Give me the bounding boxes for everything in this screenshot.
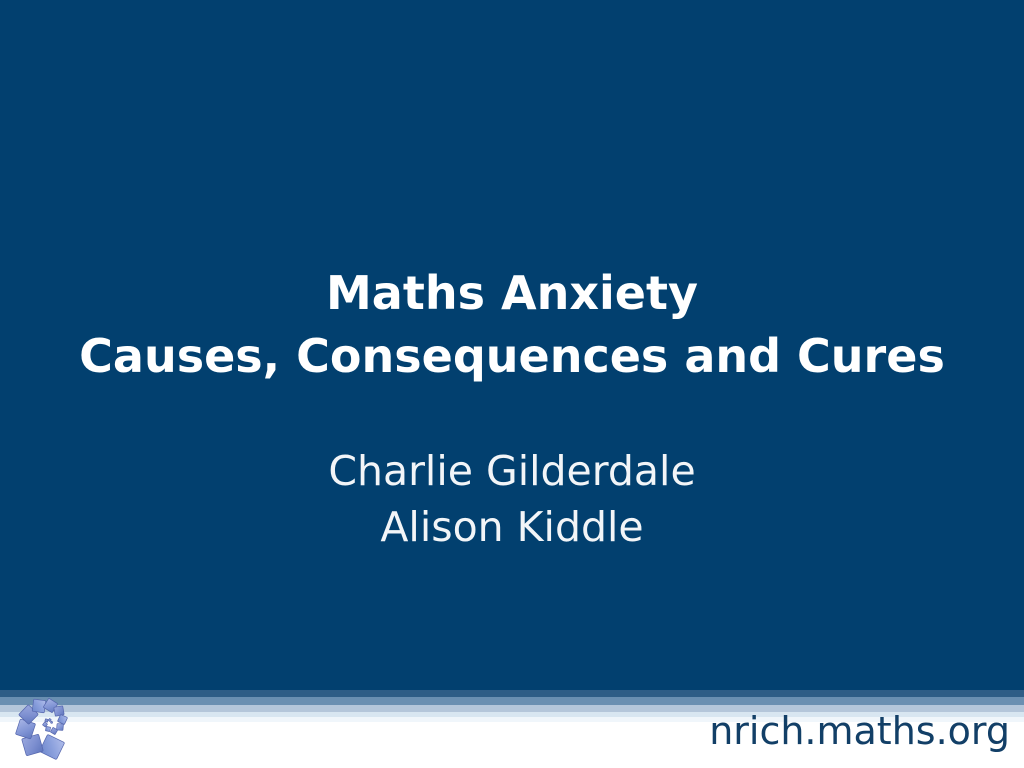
footer-url-text[interactable]: nrich.maths.org <box>709 708 1010 754</box>
title-line-1: Maths Anxiety <box>0 262 1024 325</box>
author-name-1: Charlie Gilderdale <box>0 443 1024 499</box>
title-line-2: Causes, Consequences and Cures <box>0 325 1024 388</box>
nrich-spiral-squares-logo-icon <box>13 690 79 762</box>
slide-footer: nrich.maths.org <box>0 690 1024 768</box>
footer-band-1 <box>0 690 1024 697</box>
footer-band-2 <box>0 697 1024 705</box>
slide-authors: Charlie Gilderdale Alison Kiddle <box>0 443 1024 555</box>
presentation-slide: Maths Anxiety Causes, Consequences and C… <box>0 0 1024 768</box>
author-name-2: Alison Kiddle <box>0 499 1024 555</box>
slide-title: Maths Anxiety Causes, Consequences and C… <box>0 262 1024 388</box>
